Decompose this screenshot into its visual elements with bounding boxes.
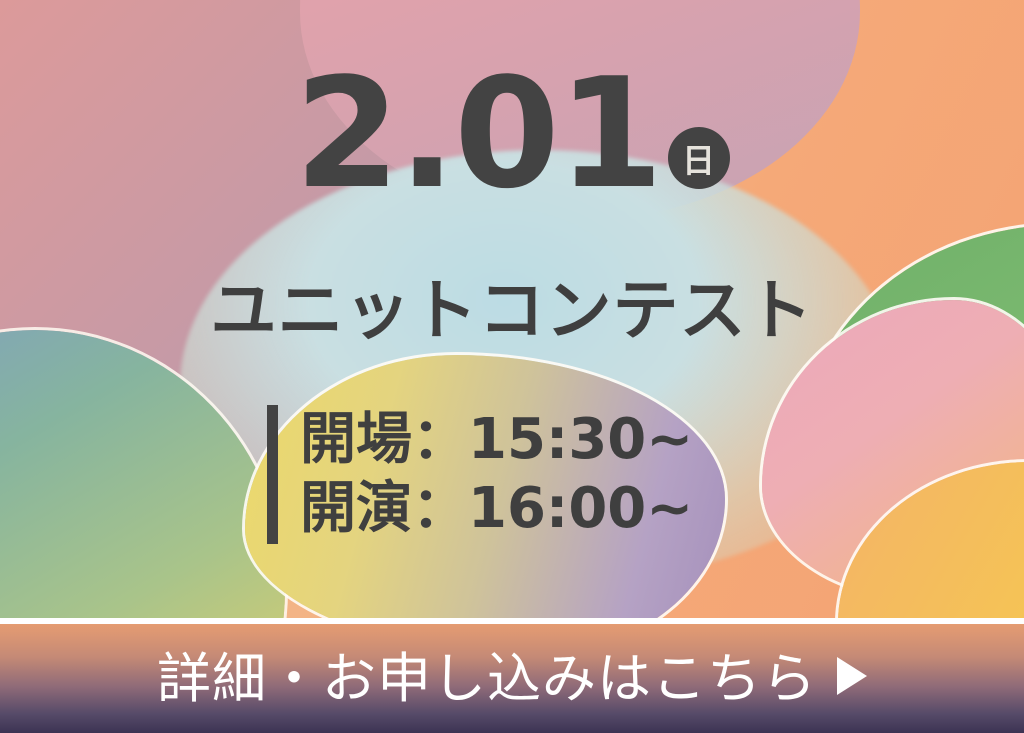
play-triangle-right-icon	[837, 657, 867, 695]
accent-bar	[267, 405, 278, 544]
schedule-show-start: 開演：16:00~	[300, 474, 693, 543]
schedule-block: 開場：15:30~ 開演：16:00~	[267, 405, 693, 544]
event-banner: 2.01 日 ユニットコンテスト 開場：15:30~ 開演：16:00~ 詳細・…	[0, 0, 1024, 733]
schedule-lines: 開場：15:30~ 開演：16:00~	[300, 405, 693, 544]
schedule-doors-open: 開場：15:30~	[300, 405, 693, 474]
event-date: 2.01	[294, 56, 661, 211]
event-date-row: 2.01 日	[0, 56, 1024, 211]
cta-label: 詳細・お申し込みはこちら	[157, 652, 817, 706]
hero-content: 2.01 日 ユニットコンテスト 開場：15:30~ 開演：16:00~	[0, 0, 1024, 618]
event-title: ユニットコンテスト	[0, 278, 1024, 344]
hero-section: 2.01 日 ユニットコンテスト 開場：15:30~ 開演：16:00~	[0, 0, 1024, 618]
weekday-badge: 日	[668, 127, 730, 189]
cta-bar[interactable]: 詳細・お申し込みはこちら	[0, 624, 1024, 733]
